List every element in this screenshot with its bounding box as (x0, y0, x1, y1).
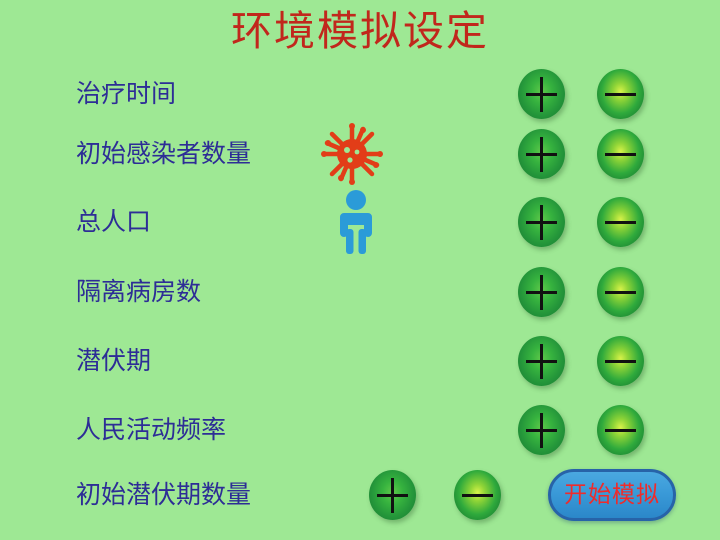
setting-row-initial-infected: 初始感染者数量 (0, 124, 720, 184)
plus-icon (391, 478, 394, 513)
setting-label: 潜伏期 (76, 346, 151, 376)
increase-button-total-population[interactable] (518, 197, 565, 247)
decrease-button-incubation-period[interactable] (597, 336, 644, 386)
increase-button-isolation-wards[interactable] (518, 267, 565, 317)
decrease-button-isolation-wards[interactable] (597, 267, 644, 317)
page-title: 环境模拟设定 (0, 6, 720, 56)
minus-icon (605, 93, 636, 96)
virus-icon (320, 122, 384, 186)
plus-icon (540, 413, 543, 448)
setting-label: 初始感染者数量 (76, 139, 251, 169)
minus-icon (462, 494, 493, 497)
increase-button-treatment-time[interactable] (518, 69, 565, 119)
setting-label: 人民活动频率 (76, 415, 226, 445)
setting-label: 治疗时间 (76, 79, 176, 109)
plus-icon (540, 275, 543, 310)
start-simulation-button[interactable]: 开始模拟 (548, 469, 676, 521)
decrease-button-initial-infected[interactable] (597, 129, 644, 179)
setting-row-incubation-period: 潜伏期 (0, 331, 720, 391)
setting-row-treatment-time: 治疗时间 (0, 64, 720, 124)
decrease-button-treatment-time[interactable] (597, 69, 644, 119)
increase-button-activity-frequency[interactable] (518, 405, 565, 455)
minus-icon (605, 360, 636, 363)
decrease-button-activity-frequency[interactable] (597, 405, 644, 455)
setting-label: 隔离病房数 (76, 277, 201, 307)
setting-row-activity-frequency: 人民活动频率 (0, 400, 720, 460)
plus-icon (540, 344, 543, 379)
minus-icon (605, 429, 636, 432)
minus-icon (605, 221, 636, 224)
increase-button-initial-infected[interactable] (518, 129, 565, 179)
setting-label: 初始潜伏期数量 (76, 480, 251, 510)
setting-label: 总人口 (76, 207, 151, 237)
plus-icon (540, 77, 543, 112)
increase-button-incubation-period[interactable] (518, 336, 565, 386)
plus-icon (540, 137, 543, 172)
start-simulation-label: 开始模拟 (564, 482, 660, 508)
minus-icon (605, 153, 636, 156)
minus-icon (605, 291, 636, 294)
setting-row-total-population: 总人口 (0, 192, 720, 252)
increase-button-initial-incubating[interactable] (369, 470, 416, 520)
decrease-button-total-population[interactable] (597, 197, 644, 247)
decrease-button-initial-incubating[interactable] (454, 470, 501, 520)
person-icon (330, 189, 382, 255)
plus-icon (540, 205, 543, 240)
simulation-settings-screen: 环境模拟设定 治疗时间 初始感染者数量 (0, 0, 720, 540)
setting-row-isolation-wards: 隔离病房数 (0, 262, 720, 322)
